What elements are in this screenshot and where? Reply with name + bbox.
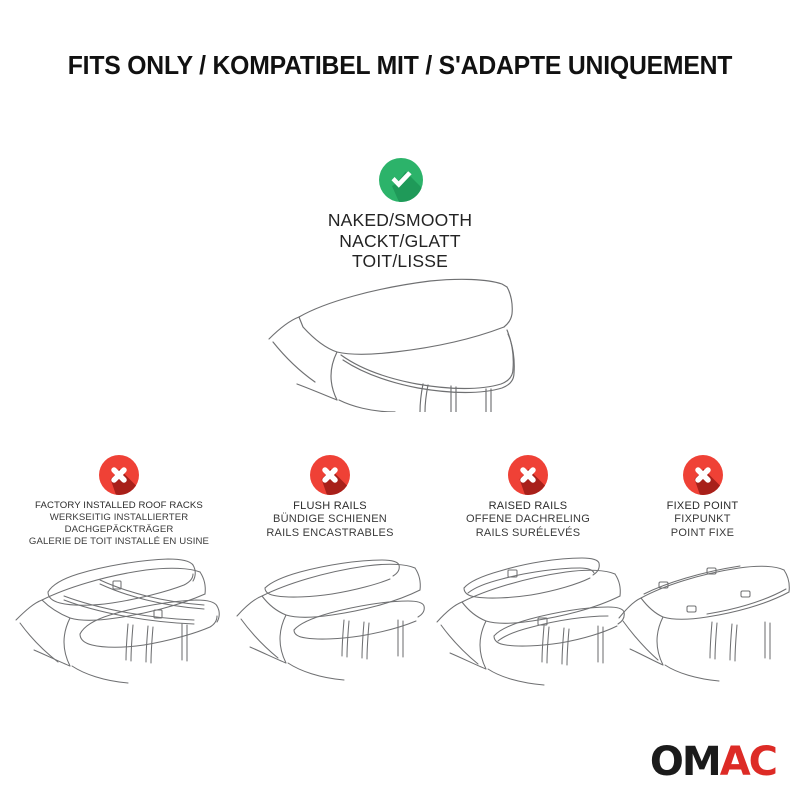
logo-text-ac: AC	[720, 739, 776, 785]
label-de-4: FIXPUNKT	[615, 513, 790, 526]
fitment-chart: FITS ONLY / KOMPATIBEL MIT / S'ADAPTE UN…	[0, 0, 800, 800]
compatible-label-de: NACKT/GLATT	[0, 232, 800, 252]
compatible-label-en: NAKED/SMOOTH	[0, 211, 800, 231]
compatible-labels: NAKED/SMOOTH NACKT/GLATT TOIT/LISSE	[0, 211, 800, 273]
omac-logo: OMAC	[650, 742, 776, 782]
car-roof-factory-rack-illustration	[8, 552, 230, 687]
label-en-4: FIXED POINT	[615, 500, 790, 513]
car-roof-naked-smooth-illustration	[255, 272, 555, 412]
logo-text-om: OM	[650, 739, 720, 785]
incompatible-labels-4: FIXED POINT FIXPUNKT POINT FIXE	[615, 500, 790, 540]
incompatible-labels-1: FACTORY INSTALLED ROOF RACKS WERKSEITIG …	[8, 500, 230, 548]
red-x-icon-2	[232, 455, 428, 495]
label-de-3: OFFENE DACHRELING	[430, 513, 626, 526]
x-glyph-3	[508, 455, 548, 495]
label-de-1a: WERKSEITIG INSTALLIERTER	[8, 512, 230, 524]
x-glyph-2	[310, 455, 350, 495]
check-glyph	[379, 158, 423, 202]
incompatible-labels-3: RAISED RAILS OFFENE DACHRELING RAILS SUR…	[430, 500, 626, 540]
label-en-2: FLUSH RAILS	[232, 500, 428, 513]
label-fr-3: RAILS SURÉLEVÉS	[430, 527, 626, 540]
red-x-icon-1	[8, 455, 230, 495]
label-fr-1: GALERIE DE TOIT INSTALLÉ EN USINE	[8, 536, 230, 548]
label-fr-2: RAILS ENCASTRABLES	[232, 527, 428, 540]
label-en-3: RAISED RAILS	[430, 500, 626, 513]
x-glyph-1	[99, 455, 139, 495]
label-de-2: BÜNDIGE SCHIENEN	[232, 513, 428, 526]
car-roof-raised-rails-illustration	[430, 552, 626, 687]
red-x-icon-4	[615, 455, 790, 495]
label-en-1: FACTORY INSTALLED ROOF RACKS	[8, 500, 230, 512]
car-roof-fixed-point-illustration	[615, 552, 790, 687]
red-x-icon-3	[430, 455, 626, 495]
compatible-label-fr: TOIT/LISSE	[0, 252, 800, 272]
incompatible-labels-2: FLUSH RAILS BÜNDIGE SCHIENEN RAILS ENCAS…	[232, 500, 428, 540]
x-glyph-4	[683, 455, 723, 495]
page-title: FITS ONLY / KOMPATIBEL MIT / S'ADAPTE UN…	[12, 52, 788, 81]
label-fr-4: POINT FIXE	[615, 527, 790, 540]
green-check-icon	[379, 158, 423, 202]
car-roof-flush-rails-illustration	[232, 552, 428, 687]
label-de-1b: DACHGEPÄCKTRÄGER	[8, 524, 230, 536]
